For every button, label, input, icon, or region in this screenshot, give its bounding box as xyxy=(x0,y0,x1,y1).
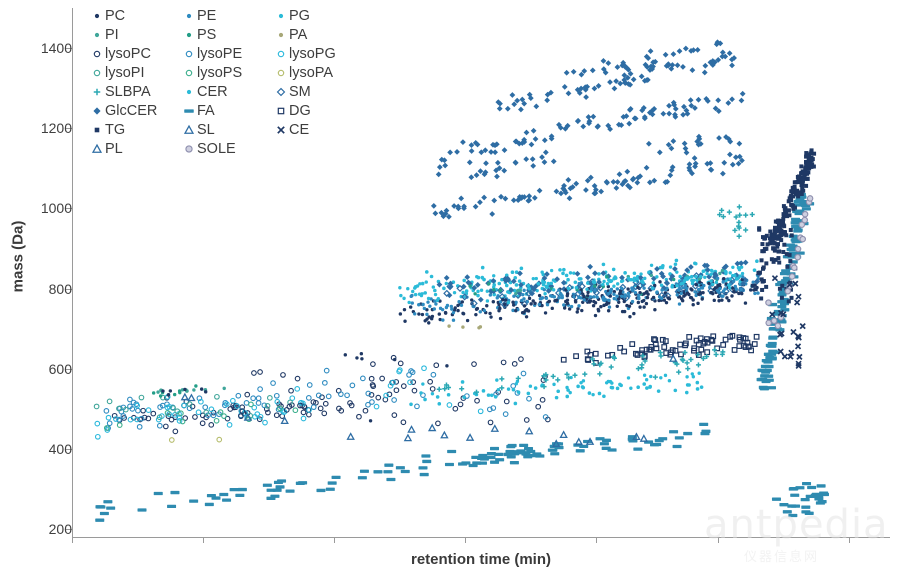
data-point xyxy=(170,491,179,494)
data-point xyxy=(685,391,689,395)
data-point xyxy=(450,307,453,310)
data-point xyxy=(582,298,585,301)
data-point xyxy=(773,230,777,234)
data-point xyxy=(566,292,569,295)
data-point xyxy=(783,230,787,234)
legend-label: PG xyxy=(289,8,310,24)
data-point xyxy=(230,488,239,491)
data-point xyxy=(374,404,379,409)
data-point xyxy=(528,287,531,290)
data-point xyxy=(361,376,366,381)
data-point xyxy=(765,365,774,368)
data-point xyxy=(408,380,413,385)
data-point xyxy=(634,291,637,294)
data-point xyxy=(788,514,797,517)
data-point xyxy=(772,241,776,245)
data-point xyxy=(633,272,637,276)
data-point xyxy=(161,389,164,392)
data-point xyxy=(460,304,463,307)
data-point xyxy=(278,13,282,17)
data-point xyxy=(811,157,815,161)
data-point xyxy=(154,492,163,495)
legend-item-sl[interactable]: SL xyxy=(180,120,272,139)
data-point xyxy=(139,395,144,400)
legend-item-slbpa[interactable]: SLBPA xyxy=(88,82,180,101)
data-point xyxy=(777,261,781,265)
data-point xyxy=(566,91,572,97)
data-point xyxy=(616,305,619,308)
data-point xyxy=(702,63,708,69)
data-point xyxy=(785,265,789,269)
data-point xyxy=(183,388,186,391)
data-point xyxy=(540,271,543,274)
data-point xyxy=(781,217,785,221)
data-point xyxy=(158,423,163,428)
data-point xyxy=(587,264,593,270)
pg-marker-icon xyxy=(272,7,289,24)
data-point xyxy=(403,308,406,311)
data-point xyxy=(106,415,111,420)
pl-marker-icon xyxy=(88,140,105,157)
data-point xyxy=(594,314,597,317)
data-point xyxy=(678,287,681,290)
data-point xyxy=(789,274,794,279)
data-point xyxy=(107,399,112,404)
data-point xyxy=(678,342,683,347)
data-point xyxy=(576,385,580,389)
data-point xyxy=(529,142,535,148)
data-point xyxy=(701,286,704,289)
data-point xyxy=(643,374,646,377)
data-point xyxy=(710,291,713,294)
legend-item-glccer[interactable]: GlcCER xyxy=(88,101,180,120)
lysopa-marker-icon xyxy=(272,64,289,81)
y-tick-label: 800 xyxy=(26,282,72,296)
data-point xyxy=(532,195,538,201)
data-point xyxy=(523,156,529,162)
legend-label: lysoPC xyxy=(105,46,151,62)
legend-label: PS xyxy=(197,27,216,43)
data-point xyxy=(633,448,642,451)
legend-item-sm[interactable]: SM xyxy=(272,82,364,101)
legend-item-fa[interactable]: FA xyxy=(180,101,272,120)
legend-item-pc[interactable]: PC xyxy=(88,6,180,25)
data-point xyxy=(512,295,515,298)
data-point xyxy=(671,51,677,57)
data-point xyxy=(699,275,702,278)
data-point xyxy=(602,263,606,267)
data-point xyxy=(344,353,347,356)
data-point xyxy=(759,296,763,300)
data-point xyxy=(771,318,776,323)
legend-item-lysopc[interactable]: lysoPC xyxy=(88,44,180,63)
data-point xyxy=(552,383,555,386)
data-point xyxy=(441,308,444,311)
data-point xyxy=(725,100,731,106)
data-point xyxy=(668,379,671,382)
data-point xyxy=(660,288,663,291)
data-point xyxy=(477,276,481,280)
data-point xyxy=(511,270,515,274)
data-point xyxy=(512,303,515,306)
legend-item-tg[interactable]: TG xyxy=(88,120,180,139)
data-point xyxy=(425,313,428,316)
data-point xyxy=(720,298,723,301)
data-point xyxy=(227,423,232,428)
data-point xyxy=(597,308,600,311)
data-point xyxy=(328,481,337,484)
data-point xyxy=(629,387,632,390)
data-point xyxy=(715,281,718,284)
data-point xyxy=(274,481,283,484)
data-point xyxy=(473,204,479,210)
data-point xyxy=(601,283,604,286)
data-point xyxy=(768,342,777,345)
data-point xyxy=(630,342,635,347)
data-point xyxy=(423,398,427,402)
data-point xyxy=(512,388,516,392)
data-point xyxy=(561,357,566,362)
legend-item-pe[interactable]: PE xyxy=(180,6,272,25)
data-point xyxy=(563,306,566,309)
data-point xyxy=(156,390,159,393)
legend-item-lysope[interactable]: lysoPE xyxy=(180,44,272,63)
data-point xyxy=(681,299,684,302)
data-point xyxy=(525,315,528,318)
data-point xyxy=(607,309,610,312)
data-point xyxy=(723,337,728,342)
x-tick xyxy=(849,537,850,543)
data-point xyxy=(659,296,662,299)
data-point xyxy=(653,375,658,380)
data-point xyxy=(186,51,191,56)
data-point xyxy=(632,312,635,315)
data-point xyxy=(550,452,559,455)
data-point xyxy=(764,375,773,378)
data-point xyxy=(169,389,172,392)
legend-item-lysops[interactable]: lysoPS xyxy=(180,63,272,82)
data-point xyxy=(465,289,469,293)
data-point xyxy=(740,292,743,295)
data-point xyxy=(793,180,797,184)
data-point xyxy=(639,73,645,79)
data-point xyxy=(462,395,466,399)
data-point xyxy=(478,297,484,303)
data-point xyxy=(740,91,746,97)
data-point xyxy=(781,250,785,254)
data-point xyxy=(513,159,519,165)
data-point xyxy=(392,413,397,418)
data-point xyxy=(700,432,709,435)
data-point xyxy=(203,405,208,410)
data-point xyxy=(697,372,700,375)
y-tick-label: 1400 xyxy=(26,41,72,55)
data-point xyxy=(281,373,286,378)
data-point xyxy=(258,370,263,375)
data-point xyxy=(492,274,495,277)
data-point xyxy=(615,179,621,185)
data-point xyxy=(590,287,593,290)
data-point xyxy=(598,189,604,195)
data-point xyxy=(94,127,99,132)
data-point xyxy=(562,268,566,272)
data-point xyxy=(624,169,630,175)
data-point xyxy=(576,310,579,313)
data-point xyxy=(526,450,535,453)
data-point xyxy=(797,174,801,178)
data-point xyxy=(544,97,550,103)
data-point xyxy=(442,287,446,291)
data-point xyxy=(729,62,735,68)
data-point xyxy=(607,285,610,288)
legend-column-2: PEPSlysoPElysoPSCERFASLSOLE xyxy=(180,6,272,158)
data-point xyxy=(730,162,736,168)
data-point xyxy=(596,295,599,298)
legend-label: CE xyxy=(289,122,309,138)
data-point xyxy=(650,274,653,277)
data-point xyxy=(188,395,194,401)
legend-item-lysopa[interactable]: lysoPA xyxy=(272,63,364,82)
data-point xyxy=(693,262,697,266)
data-point xyxy=(106,506,115,509)
data-point xyxy=(634,180,640,186)
data-point xyxy=(524,447,533,450)
data-point xyxy=(542,137,548,143)
data-point xyxy=(565,395,569,399)
data-point xyxy=(173,393,176,396)
data-point xyxy=(189,499,198,502)
data-point xyxy=(505,450,514,453)
data-point xyxy=(425,317,428,320)
data-point xyxy=(576,307,579,310)
data-point xyxy=(556,389,560,393)
data-point xyxy=(437,164,443,170)
data-point xyxy=(104,409,109,414)
data-point xyxy=(623,271,627,275)
data-point xyxy=(472,362,477,367)
data-point xyxy=(793,281,798,286)
data-point xyxy=(461,380,465,384)
data-point xyxy=(760,387,769,390)
data-point xyxy=(508,444,517,447)
data-point xyxy=(433,289,437,293)
data-point xyxy=(641,436,647,442)
data-point xyxy=(612,293,615,296)
data-point xyxy=(410,294,413,297)
data-point xyxy=(575,286,578,289)
data-point xyxy=(723,287,726,290)
data-point xyxy=(592,270,598,276)
data-point xyxy=(293,408,298,413)
data-point xyxy=(773,249,777,253)
data-point xyxy=(413,312,416,315)
legend-item-pi[interactable]: PI xyxy=(88,25,180,44)
data-point xyxy=(572,295,575,298)
data-point xyxy=(524,130,530,136)
data-point xyxy=(499,317,502,320)
data-point xyxy=(685,366,690,371)
legend-item-ps[interactable]: PS xyxy=(180,25,272,44)
data-point xyxy=(419,466,428,469)
data-point xyxy=(478,461,487,464)
data-point xyxy=(543,150,549,156)
data-point xyxy=(709,273,712,276)
data-point xyxy=(565,274,569,278)
data-point xyxy=(485,304,488,307)
data-point xyxy=(674,389,678,393)
data-point xyxy=(600,442,609,445)
data-point xyxy=(694,275,697,278)
data-point xyxy=(571,69,577,75)
legend-label: SLBPA xyxy=(105,84,151,100)
legend-item-ce[interactable]: CE xyxy=(272,120,364,139)
data-point xyxy=(520,267,524,271)
data-point xyxy=(804,184,808,188)
data-point xyxy=(490,447,499,450)
data-point xyxy=(673,445,682,448)
data-point xyxy=(628,305,631,308)
data-point xyxy=(737,204,742,209)
data-point xyxy=(476,290,479,293)
data-point xyxy=(743,213,748,218)
data-point xyxy=(677,48,683,54)
data-point xyxy=(437,402,441,406)
data-point xyxy=(436,395,440,399)
data-point xyxy=(487,393,491,397)
data-point xyxy=(434,293,437,296)
data-point xyxy=(616,387,620,391)
data-point xyxy=(621,310,624,313)
data-point xyxy=(798,190,802,194)
data-point xyxy=(616,287,619,290)
data-point xyxy=(690,67,696,73)
legend-item-dg[interactable]: DG xyxy=(272,101,364,120)
data-point xyxy=(739,98,745,104)
data-point xyxy=(623,295,626,298)
data-point xyxy=(569,391,572,394)
data-point xyxy=(499,376,504,381)
data-point xyxy=(436,421,441,426)
data-point xyxy=(532,277,535,280)
data-point xyxy=(576,449,585,452)
data-point xyxy=(401,384,406,389)
data-point xyxy=(721,269,724,272)
data-point xyxy=(785,252,789,256)
data-point xyxy=(517,390,521,394)
data-point xyxy=(421,382,424,385)
data-point xyxy=(722,280,725,283)
legend-item-cer[interactable]: CER xyxy=(180,82,272,101)
x-tick xyxy=(596,537,597,543)
legend-item-pa[interactable]: PA xyxy=(272,25,364,44)
data-point xyxy=(616,282,619,285)
data-point xyxy=(688,357,693,362)
data-point xyxy=(539,297,542,300)
data-point xyxy=(350,383,355,388)
data-point xyxy=(348,434,354,440)
data-point xyxy=(645,386,649,390)
data-point xyxy=(779,238,783,242)
data-point xyxy=(492,149,498,155)
legend-item-lysopg[interactable]: lysoPG xyxy=(272,44,364,63)
data-point xyxy=(442,163,448,169)
data-point xyxy=(452,311,455,314)
data-point xyxy=(588,300,591,303)
data-point xyxy=(593,288,596,291)
data-point xyxy=(263,484,272,487)
data-point xyxy=(639,362,644,367)
legend-label: TG xyxy=(105,122,125,138)
data-point xyxy=(542,283,546,287)
data-point xyxy=(631,300,634,303)
data-point xyxy=(428,379,433,384)
data-point xyxy=(561,296,564,299)
data-point xyxy=(787,248,796,251)
data-point xyxy=(670,138,676,144)
data-point xyxy=(437,387,442,392)
data-point xyxy=(793,229,802,232)
data-point xyxy=(699,292,702,295)
data-point xyxy=(466,319,469,322)
data-point xyxy=(405,435,411,441)
data-point xyxy=(684,277,687,280)
data-point xyxy=(507,387,510,390)
data-point xyxy=(526,428,532,434)
data-point xyxy=(669,265,672,268)
data-point xyxy=(780,296,784,300)
data-point xyxy=(642,299,645,302)
legend-item-pl[interactable]: PL xyxy=(88,139,180,158)
data-point xyxy=(807,158,811,162)
data-point xyxy=(743,228,748,233)
data-point xyxy=(638,305,641,308)
legend-item-sole[interactable]: SOLE xyxy=(180,139,272,158)
legend-label: SM xyxy=(289,84,311,100)
data-point xyxy=(807,196,812,201)
data-point xyxy=(683,146,689,152)
data-point xyxy=(461,461,470,464)
data-point xyxy=(749,288,752,291)
legend-item-lysopi[interactable]: lysoPI xyxy=(88,63,180,82)
data-point xyxy=(577,304,580,307)
data-point xyxy=(398,361,403,366)
data-point xyxy=(414,285,418,289)
data-point xyxy=(754,335,759,340)
legend-label: DG xyxy=(289,103,311,119)
data-point xyxy=(762,265,766,269)
data-point xyxy=(323,401,328,406)
data-point xyxy=(423,291,427,295)
data-point xyxy=(623,300,626,303)
data-point xyxy=(393,358,396,361)
data-point xyxy=(585,288,588,291)
legend-item-pg[interactable]: PG xyxy=(272,6,364,25)
data-point xyxy=(790,296,794,300)
data-point xyxy=(737,234,742,239)
data-point xyxy=(751,280,754,283)
data-point xyxy=(637,301,640,304)
data-point xyxy=(456,309,459,312)
data-point xyxy=(266,497,275,500)
data-point xyxy=(527,392,531,396)
data-point xyxy=(644,165,650,171)
data-point xyxy=(737,266,741,270)
data-point xyxy=(544,311,547,314)
data-point xyxy=(642,382,646,386)
y-tick-label: 600 xyxy=(26,362,72,376)
data-point xyxy=(787,209,791,213)
data-point xyxy=(458,195,464,201)
